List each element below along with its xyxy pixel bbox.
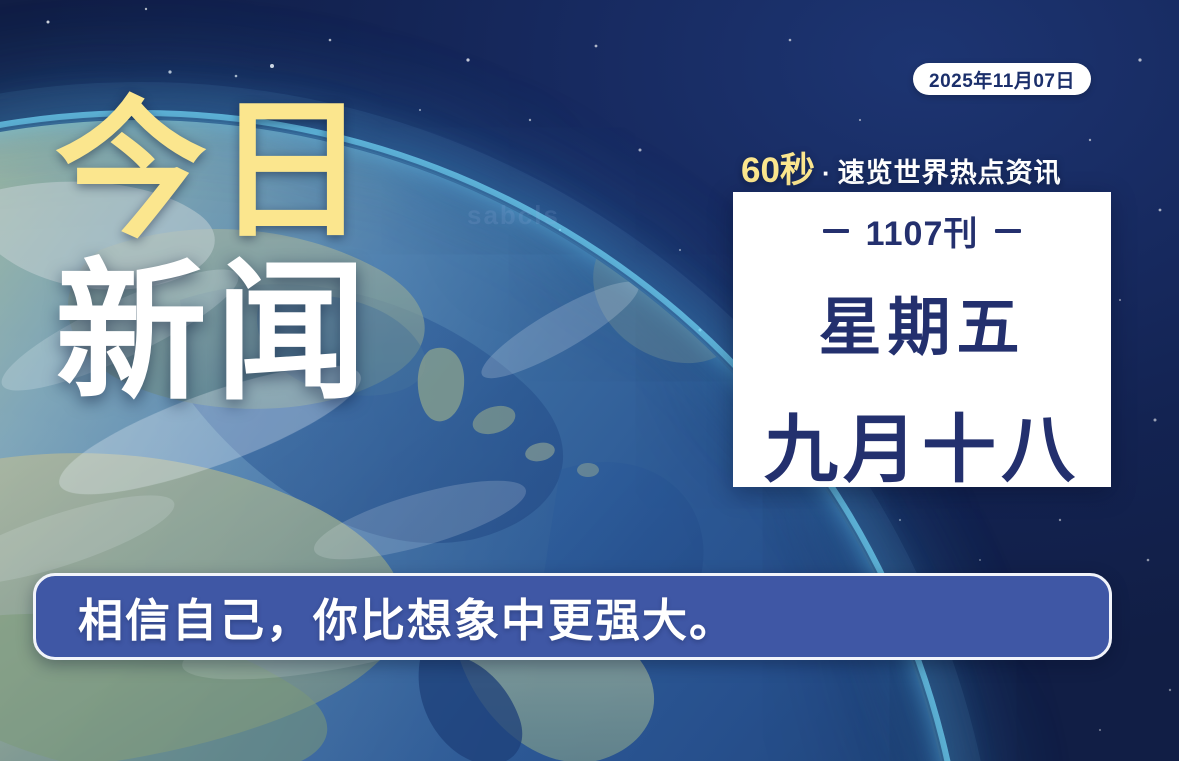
brand-title-line-1: 今日 (55, 96, 475, 246)
tagline-highlight: 60秒 (741, 142, 815, 193)
brand-title: 今日 新闻 (55, 96, 475, 408)
news-poster: sabcls 今日 新闻 2025年11月07日 60秒 · 速览世界热点资讯 … (0, 0, 1179, 761)
issue-number-label: 1107刊 (866, 206, 979, 255)
lunar-date-label: 九月十八 (764, 390, 1080, 497)
dash-right-icon (995, 229, 1021, 233)
dash-left-icon (823, 229, 849, 233)
weekday-label: 星期五 (819, 277, 1026, 368)
issue-number-row: 1107刊 (823, 206, 1022, 255)
brand-title-line-2: 新闻 (55, 258, 475, 408)
tagline: 60秒 · 速览世界热点资讯 (741, 142, 1062, 193)
quote-banner: 相信自己，你比想象中更强大。 (33, 573, 1112, 660)
tagline-rest: 速览世界热点资讯 (838, 151, 1062, 190)
tagline-separator: · (818, 158, 835, 189)
quote-text: 相信自己，你比想象中更强大。 (78, 584, 736, 649)
date-badge: 2025年11月07日 (913, 63, 1091, 95)
date-info-card: 1107刊 星期五 九月十八 (733, 192, 1111, 487)
